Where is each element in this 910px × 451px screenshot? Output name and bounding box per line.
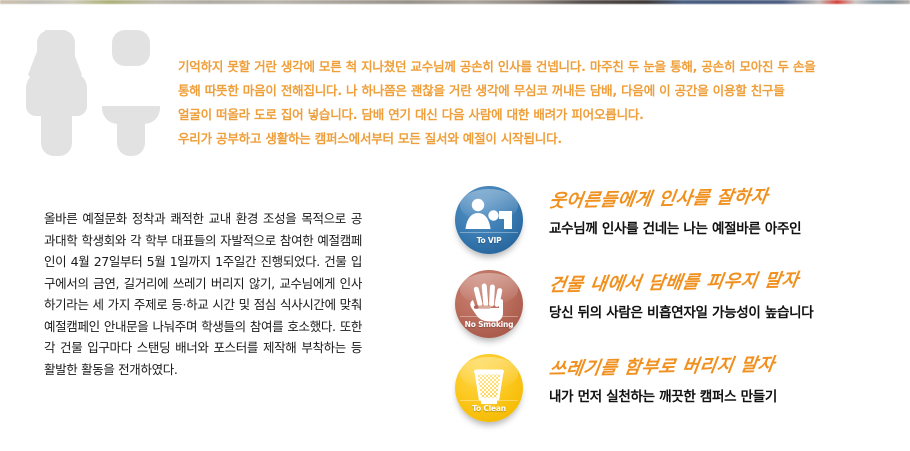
badge-to-clean[interactable]: To Clean (455, 354, 523, 422)
badge-caption-to-clean: To Clean (455, 404, 523, 413)
campaign-subline-clean: 내가 먼저 실천하는 깨끗한 캠퍼스 만들기 (549, 388, 899, 406)
intro-line-2: 통해 따뜻한 마음이 전해집니다. 나 하나쯤은 괜찮을 거란 생각에 무심코 … (178, 79, 894, 103)
badge-divider (460, 400, 517, 401)
intro-line-1: 기억하지 못할 거란 생각에 모른 척 지나쳤던 교수님께 공손히 인사를 건넵… (178, 55, 894, 79)
campaign-headline-no-smoking: 건물 내에서 담배를 피우지 말자 (547, 267, 901, 298)
badge-divider (460, 232, 517, 233)
cigarette-shape (474, 306, 491, 309)
campaign-item-clean: To Clean 쓰레기를 함부로 버리지 말자 내가 먼저 실천하는 깨끗한 … (455, 354, 905, 438)
campaign-list: To VIP 웃어른들에게 인사를 잘하자 교수님께 인사를 건네는 나는 예절… (455, 186, 905, 438)
campaign-texts-no-smoking: 건물 내에서 담배를 피우지 말자 당신 뒤의 사람은 비흡연자일 가능성이 높… (549, 274, 899, 322)
campaign-headline-greeting: 웃어른들에게 인사를 잘하자 (547, 183, 901, 214)
article-body: 올바른 예절문화 정착과 쾌적한 교내 환경 조성을 목적으로 공과대학 학생회… (44, 208, 362, 380)
intro-line-3: 얼굴이 떠올라 도로 집어 넣습니다. 담배 연기 대신 다음 사람에 대한 배… (178, 103, 894, 127)
article-body-text: 올바른 예절문화 정착과 쾌적한 교내 환경 조성을 목적으로 공과대학 학생회… (44, 208, 362, 380)
two-people-silhouette-icon (26, 30, 166, 175)
badge-to-vip[interactable]: To VIP (455, 186, 523, 254)
man-legs-shape (41, 108, 72, 156)
campaign-subline-no-smoking: 당신 뒤의 사람은 비흡연자일 가능성이 높습니다 (549, 304, 899, 322)
badge-caption-to-vip: To VIP (455, 236, 523, 245)
campaign-texts-clean: 쓰레기를 함부로 버리지 말자 내가 먼저 실천하는 깨끗한 캠퍼스 만들기 (549, 358, 899, 406)
woman-head-shape (112, 30, 150, 66)
intro-paragraph: 기억하지 못할 거란 생각에 모른 척 지나쳤던 교수님께 공손히 인사를 건넵… (178, 55, 894, 151)
top-photo-strip (0, 0, 910, 4)
badge-divider (460, 316, 517, 317)
campaign-texts-greeting: 웃어른들에게 인사를 잘하자 교수님께 인사를 건네는 나는 예절바른 아주인 (549, 190, 899, 238)
badge-no-smoking[interactable]: No Smoking (455, 270, 523, 338)
campaign-item-no-smoking: No Smoking 건물 내에서 담배를 피우지 말자 당신 뒤의 사람은 비… (455, 270, 905, 354)
campaign-headline-clean: 쓰레기를 함부로 버리지 말자 (547, 351, 901, 382)
campaign-subline-greeting: 교수님께 인사를 건네는 나는 예절바른 아주인 (549, 220, 899, 238)
intro-line-4: 우리가 공부하고 생활하는 캠퍼스에서부터 모든 질서와 예절이 시작됩니다. (178, 127, 894, 151)
campaign-item-greeting: To VIP 웃어른들에게 인사를 잘하자 교수님께 인사를 건네는 나는 예절… (455, 186, 905, 270)
woman-legs-shape (117, 116, 145, 156)
badge-caption-no-smoking: No Smoking (455, 320, 523, 329)
woman-skirt-shape (26, 30, 84, 80)
